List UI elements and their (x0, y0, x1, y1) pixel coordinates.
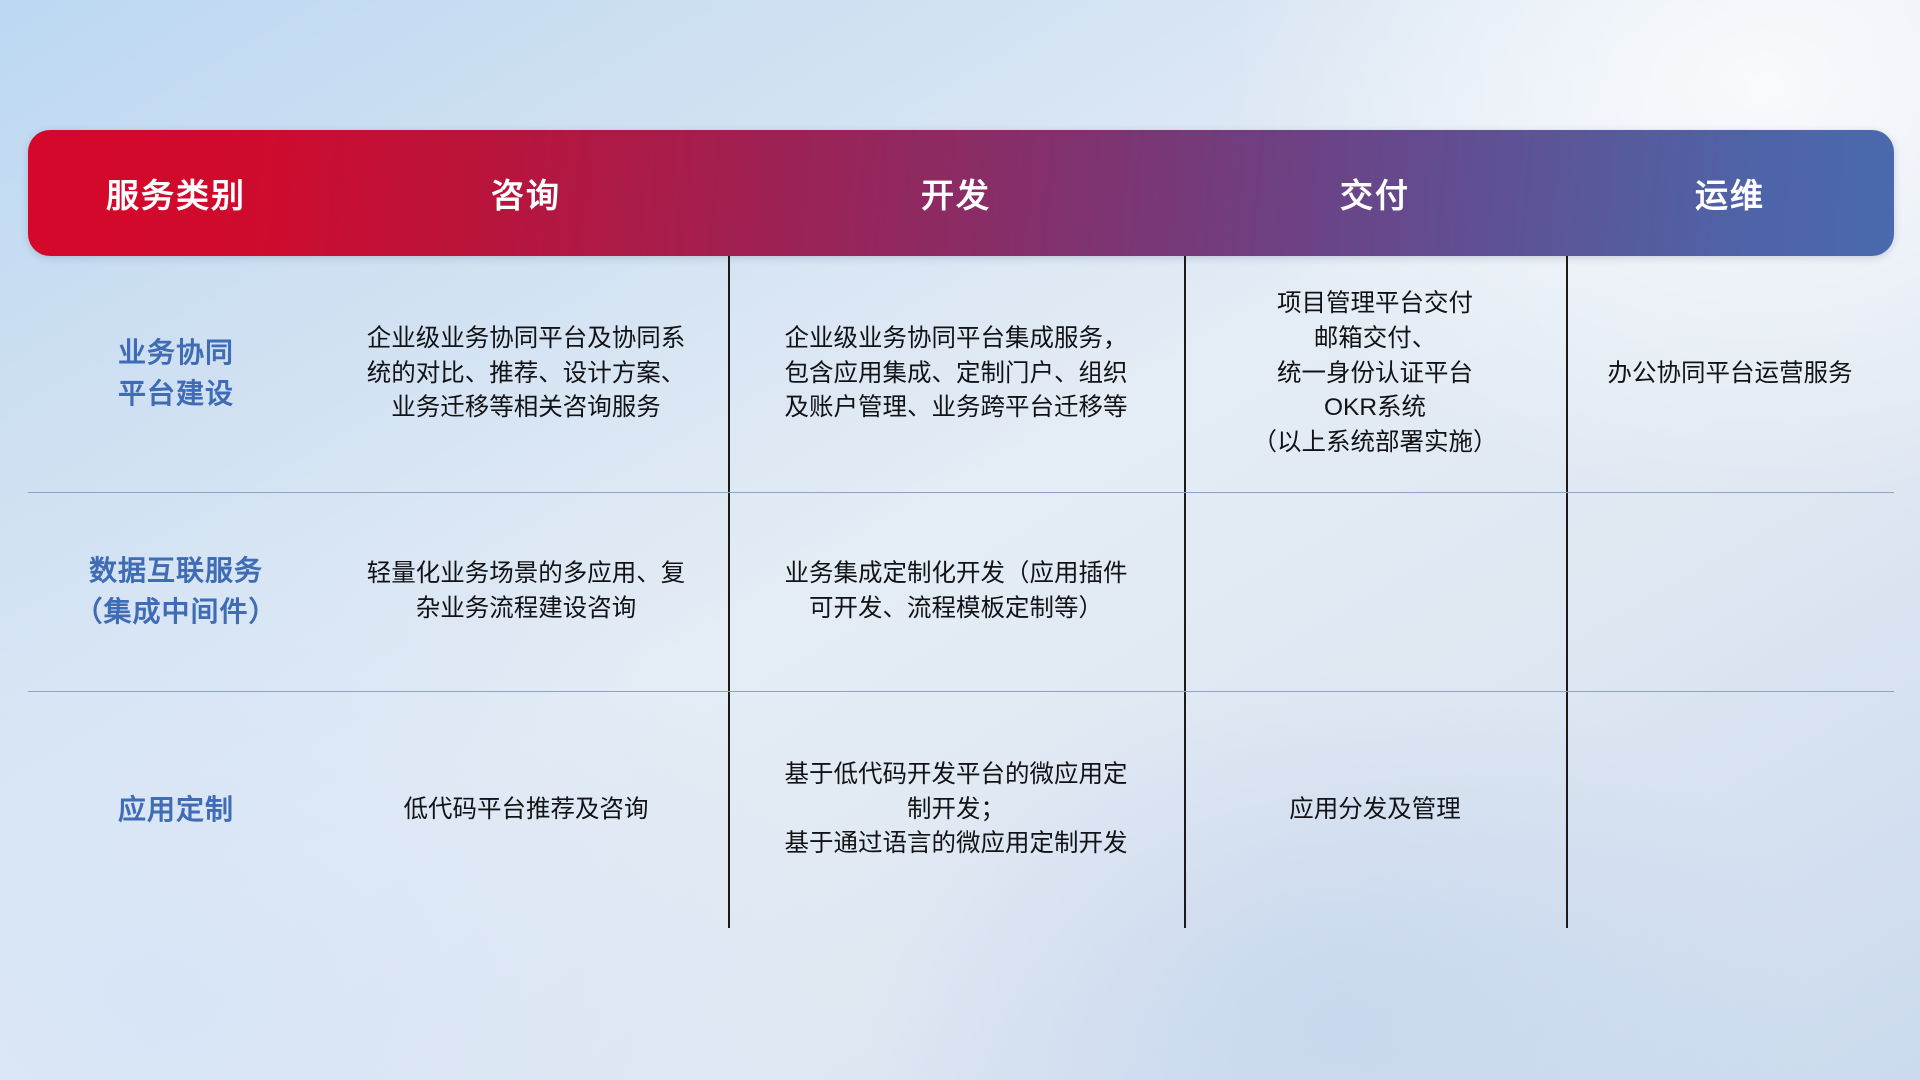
cell-consulting: 轻量化业务场景的多应用、复 杂业务流程建设咨询 (324, 493, 728, 691)
row-category-label: 应用定制 (28, 692, 324, 928)
cell-development: 基于低代码开发平台的微应用定 制开发； 基于通过语言的微应用定制开发 (728, 692, 1184, 928)
table-row: 应用定制 低代码平台推荐及咨询 基于低代码开发平台的微应用定 制开发； 基于通过… (28, 692, 1894, 928)
row-category-label: 数据互联服务 （集成中间件） (28, 493, 324, 691)
table-header-cell-development: 开发 (728, 130, 1184, 256)
cell-operations: 办公协同平台运营服务 (1566, 256, 1894, 492)
cell-delivery: 项目管理平台交付 邮箱交付、 统一身份认证平台 OKR系统 （以上系统部署实施） (1184, 256, 1566, 492)
column-divider (1184, 493, 1186, 691)
cell-consulting: 低代码平台推荐及咨询 (324, 692, 728, 928)
cell-delivery (1184, 493, 1566, 691)
table-header-cell-consulting: 咨询 (324, 130, 728, 256)
table-row: 业务协同 平台建设 企业级业务协同平台及协同系 统的对比、推荐、设计方案、 业务… (28, 256, 1894, 493)
table-body: 业务协同 平台建设 企业级业务协同平台及协同系 统的对比、推荐、设计方案、 业务… (28, 256, 1894, 928)
column-divider (728, 493, 730, 691)
column-divider (1184, 692, 1186, 928)
service-matrix-table: 服务类别 咨询 开发 交付 运维 业务协同 平台建设 企业级业务协同平台及协同系… (28, 130, 1894, 928)
cell-operations (1566, 493, 1894, 691)
table-header-cell-delivery: 交付 (1184, 130, 1566, 256)
cell-delivery: 应用分发及管理 (1184, 692, 1566, 928)
row-category-label: 业务协同 平台建设 (28, 256, 324, 492)
table-header-cell-category: 服务类别 (28, 130, 324, 256)
table-header-row: 服务类别 咨询 开发 交付 运维 (28, 130, 1894, 256)
cell-operations (1566, 692, 1894, 928)
table-row: 数据互联服务 （集成中间件） 轻量化业务场景的多应用、复 杂业务流程建设咨询 业… (28, 493, 1894, 692)
table-header-cell-operations: 运维 (1566, 130, 1894, 256)
cell-development: 业务集成定制化开发（应用插件 可开发、流程模板定制等） (728, 493, 1184, 691)
cell-development: 企业级业务协同平台集成服务， 包含应用集成、定制门户、组织 及账户管理、业务跨平… (728, 256, 1184, 492)
slide-page: 服务类别 咨询 开发 交付 运维 业务协同 平台建设 企业级业务协同平台及协同系… (0, 0, 1920, 1080)
column-divider (1184, 256, 1186, 492)
column-divider (1566, 256, 1568, 492)
cell-consulting: 企业级业务协同平台及协同系 统的对比、推荐、设计方案、 业务迁移等相关咨询服务 (324, 256, 728, 492)
column-divider (728, 256, 730, 492)
column-divider (1566, 692, 1568, 928)
column-divider (1566, 493, 1568, 691)
column-divider (728, 692, 730, 928)
